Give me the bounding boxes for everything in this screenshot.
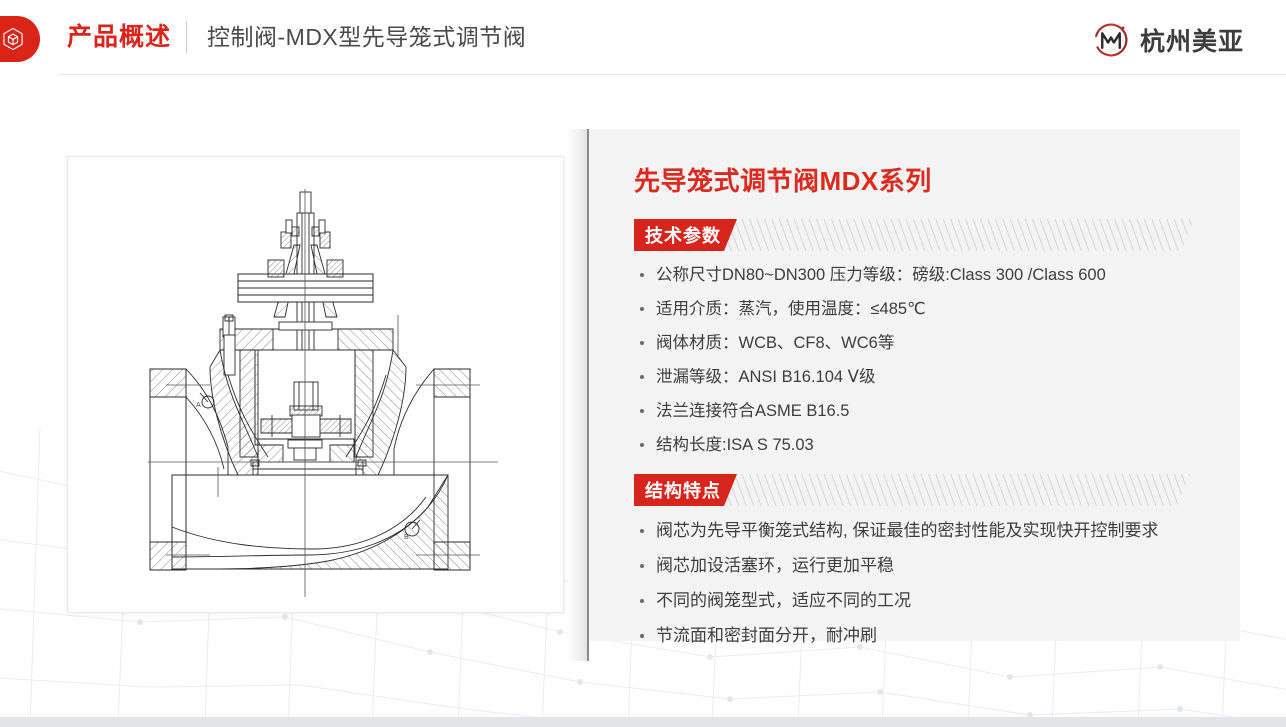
structure-feature-list: 阀芯为先导平衡笼式结构, 保证最佳的密封性能及实现快开控制要求 阀芯加设活塞环，… bbox=[634, 513, 1158, 653]
svg-text:B: B bbox=[404, 534, 409, 541]
list-item: 阀芯加设活塞环，运行更加平稳 bbox=[634, 548, 1158, 583]
header-divider bbox=[186, 21, 187, 53]
list-item: 公称尺寸DN80~DN300 压力等级：磅级:Class 300 /Class … bbox=[634, 258, 1106, 292]
section-header-tech: 技术参数 bbox=[634, 219, 1194, 251]
list-item: 结构长度:ISA S 75.03 bbox=[634, 428, 1106, 462]
brand-name: 杭州美亚 bbox=[1140, 22, 1244, 58]
page-header: 产品概述 控制阀-MDX型先导笼式调节阀 杭州美亚 bbox=[0, 0, 1286, 78]
list-item: 适用介质：蒸汽，使用温度：≤485℃ bbox=[634, 292, 1106, 326]
meiya-m-circle-logo bbox=[1091, 20, 1131, 60]
list-item: 阀芯为先导平衡笼式结构, 保证最佳的密封性能及实现快开控制要求 bbox=[634, 513, 1158, 548]
list-item: 不同的阀笼型式，适应不同的工况 bbox=[634, 583, 1158, 618]
list-item: 阀体材质：WCB、CF8、WC6等 bbox=[634, 326, 1106, 360]
tech-spec-list: 公称尺寸DN80~DN300 压力等级：磅级:Class 300 /Class … bbox=[634, 258, 1106, 462]
section-tag-features: 结构特点 bbox=[634, 474, 737, 506]
control-valve-cross-section-drawing: A B bbox=[68, 157, 563, 612]
list-item: 泄漏等级：ANSI B16.104 Ⅴ级 bbox=[634, 360, 1106, 394]
slide-root: 产品概述 控制阀-MDX型先导笼式调节阀 杭州美亚 bbox=[0, 0, 1286, 727]
svg-text:A: A bbox=[196, 402, 201, 409]
product-series-title: 先导笼式调节阀MDX系列 bbox=[634, 161, 932, 198]
brand-logo: 杭州美亚 bbox=[1091, 18, 1244, 62]
section-tag-tech: 技术参数 bbox=[634, 219, 737, 251]
list-item: 法兰连接符合ASME B16.5 bbox=[634, 394, 1106, 428]
panel-fold-edge bbox=[568, 129, 588, 661]
page-title-secondary: 控制阀-MDX型先导笼式调节阀 bbox=[207, 21, 526, 53]
bottom-strip bbox=[0, 717, 1286, 727]
cube-hexagon-icon bbox=[0, 16, 40, 62]
page-title-primary: 产品概述 bbox=[67, 20, 171, 54]
section-header-features: 结构特点 bbox=[634, 474, 1190, 506]
header-rule bbox=[60, 74, 1286, 75]
list-item: 节流面和密封面分开，耐冲刷 bbox=[634, 618, 1158, 653]
valve-drawing-card: A B bbox=[67, 156, 564, 613]
